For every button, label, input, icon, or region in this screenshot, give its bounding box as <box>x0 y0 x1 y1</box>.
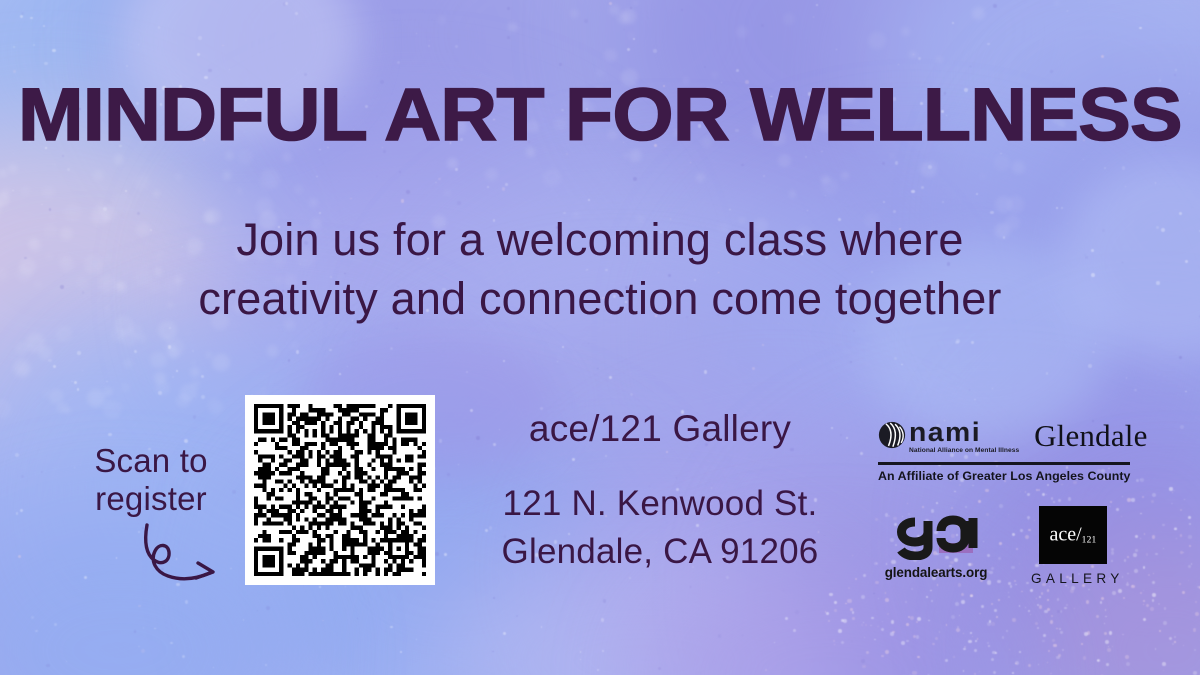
nami-rule <box>878 462 1130 465</box>
page-title: MINDFUL ART FOR WELLNESS <box>0 78 1200 152</box>
nami-affiliate-text: An Affiliate of Greater Los Angeles Coun… <box>878 469 1130 483</box>
scan-to-register-block: Scan to register <box>56 442 246 519</box>
venue-name: ace/121 Gallery <box>455 408 865 450</box>
glendale-arts-url[interactable]: glendalearts.org <box>880 565 992 580</box>
poster-subtitle: Join us for a welcoming class where crea… <box>0 210 1200 329</box>
nami-tagline: National Alliance on Mental Illness <box>909 447 1019 454</box>
ace-logo-text: ace/121 <box>1039 524 1107 546</box>
scan-instruction-text: Scan to register <box>56 442 246 519</box>
subtitle-line-2: creativity and connection come together <box>0 269 1200 328</box>
venue-street: 121 N. Kenwood St. <box>455 484 865 524</box>
subtitle-line-1: Join us for a welcoming class where <box>0 210 1200 269</box>
ace-121-gallery-logo: ace/121 GALLERY <box>1027 506 1119 586</box>
venue-info: ace/121 Gallery 121 N. Kenwood St. Glend… <box>455 408 865 572</box>
ace-mark-sub: 121 <box>1082 535 1097 545</box>
nami-glendale-logo: nami National Alliance on Mental Illness… <box>878 420 1130 483</box>
glendale-arts-logo[interactable]: glendalearts.org <box>880 505 992 580</box>
ga-monogram-icon <box>884 505 989 560</box>
nami-swirl-icon <box>878 421 906 449</box>
qr-code-image[interactable] <box>254 404 426 576</box>
event-poster: MINDFUL ART FOR WELLNESS Join us for a w… <box>0 0 1200 675</box>
scan-line-2: register <box>56 480 246 518</box>
nami-wordmark: nami <box>909 420 1022 445</box>
scan-line-1: Scan to <box>56 442 246 480</box>
ace-gallery-label: GALLERY <box>1027 571 1119 586</box>
qr-code-registration[interactable] <box>245 395 435 585</box>
ace-mark-text: ace/ <box>1049 523 1081 545</box>
venue-city-state-zip: Glendale, CA 91206 <box>455 532 865 572</box>
curved-arrow-icon <box>134 520 230 590</box>
nami-chapter-name: Glendale <box>1034 420 1148 453</box>
ace-logo-box: ace/121 <box>1039 506 1107 564</box>
